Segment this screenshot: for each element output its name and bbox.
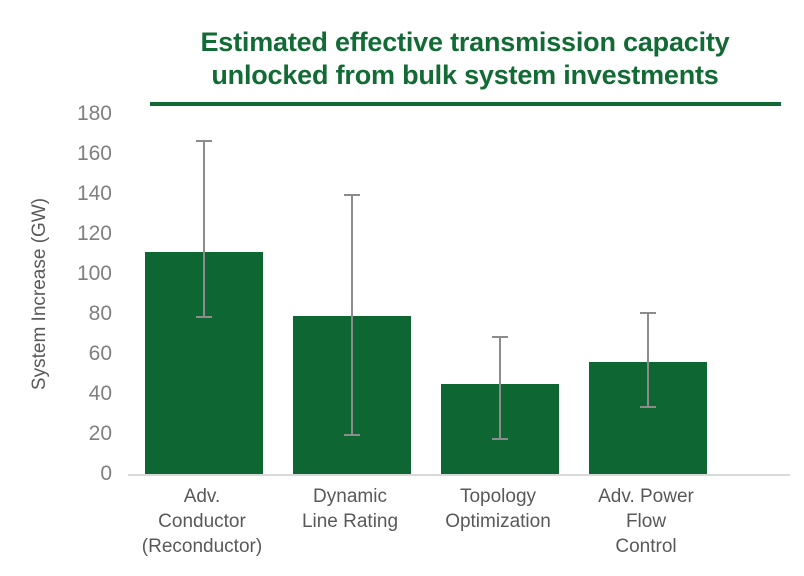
error-bar-cap-lower xyxy=(344,434,360,436)
x-tick-label: Adv. Power Flow Control xyxy=(572,484,720,559)
y-tick-label: 120 xyxy=(32,223,112,244)
error-bar-cap-upper xyxy=(492,336,508,338)
chart-title-line-2: unlocked from bulk system investments xyxy=(140,59,790,92)
y-tick-label: 80 xyxy=(32,303,112,324)
y-tick-label: 140 xyxy=(32,183,112,204)
error-bar xyxy=(640,312,656,408)
y-tick-label: 100 xyxy=(32,263,112,284)
x-tick-label: Adv. Conductor (Reconductor) xyxy=(128,484,276,559)
plot-area xyxy=(128,110,790,476)
error-bar-cap-upper xyxy=(196,140,212,142)
error-bar xyxy=(344,194,360,436)
y-tick-label: 160 xyxy=(32,143,112,164)
y-tick-label: 20 xyxy=(32,423,112,444)
y-tick-label: 0 xyxy=(32,463,112,484)
error-bar-stem xyxy=(203,140,205,318)
x-tick-label: Topology Optimization xyxy=(424,484,572,534)
error-bar-stem xyxy=(351,194,353,436)
error-bar-cap-lower xyxy=(492,438,508,440)
y-tick-label: 60 xyxy=(32,343,112,364)
chart-title: Estimated effective transmission capacit… xyxy=(140,26,790,92)
error-bar-stem xyxy=(647,312,649,408)
error-bar-cap-upper xyxy=(344,194,360,196)
error-bar xyxy=(196,140,212,318)
error-bar xyxy=(492,336,508,440)
bar-chart: Estimated effective transmission capacit… xyxy=(0,0,804,576)
y-tick-label: 40 xyxy=(32,383,112,404)
x-tick-label: Dynamic Line Rating xyxy=(276,484,424,534)
error-bar-cap-lower xyxy=(640,406,656,408)
error-bar-cap-upper xyxy=(640,312,656,314)
y-tick-label: 180 xyxy=(32,103,112,124)
title-underline-rule xyxy=(150,102,781,106)
error-bar-cap-lower xyxy=(196,316,212,318)
chart-title-line-1: Estimated effective transmission capacit… xyxy=(140,26,790,59)
error-bar-stem xyxy=(499,336,501,440)
